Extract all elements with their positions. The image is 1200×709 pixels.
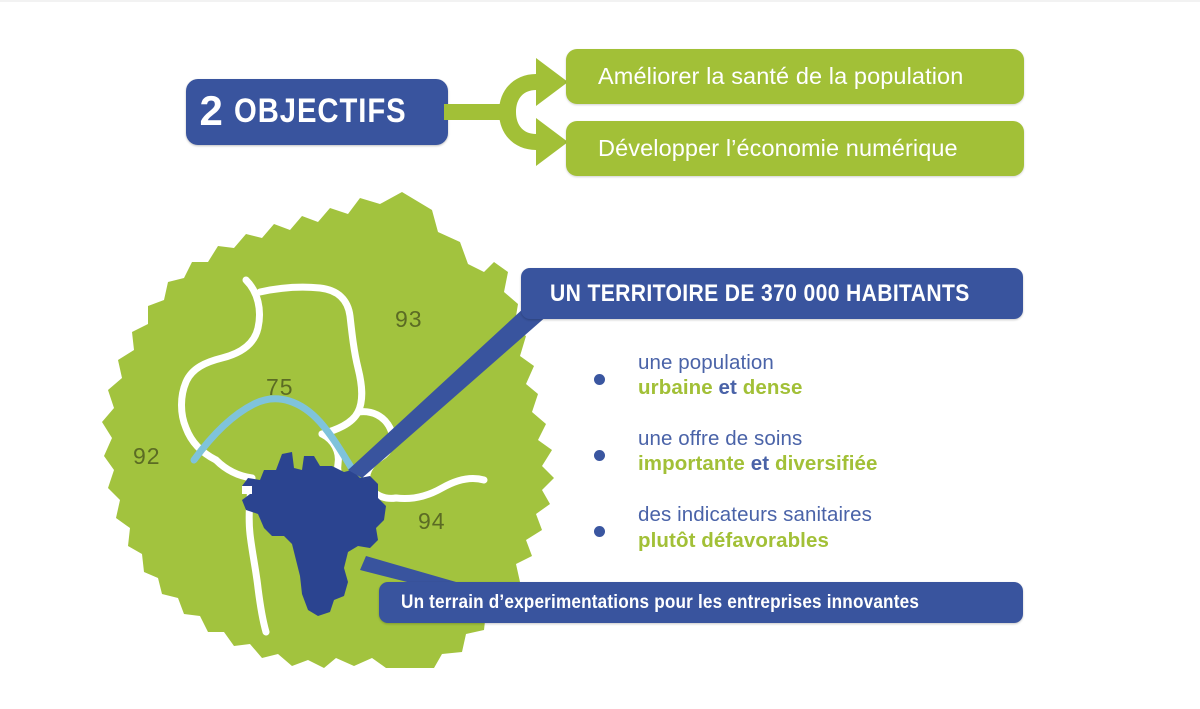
objectives-badge: 2 OBJECTIFS: [186, 79, 448, 145]
objectives-word: OBJECTIFS: [234, 94, 407, 128]
territory-banner-label: UN TERRITOIRE DE 370 000 HABITANTS: [521, 282, 970, 306]
fact-emphasis-a: importante: [638, 452, 745, 475]
bullet-dot-icon: [594, 526, 605, 537]
list-item: une population urbaine et dense: [590, 350, 970, 402]
top-divider: [0, 0, 1200, 2]
map-label-75: 75: [266, 374, 294, 401]
fact-conjunction: et: [719, 376, 737, 399]
objectives-count: 2: [199, 90, 222, 132]
territory-banner: UN TERRITOIRE DE 370 000 HABITANTS: [521, 268, 1023, 319]
fork-arrow-icon: [444, 52, 570, 172]
objective-label-1: Développer l’économie numérique: [566, 137, 958, 161]
territory-facts-list: une population urbaine et dense une offr…: [590, 350, 970, 578]
objective-pill-1: Développer l’économie numérique: [566, 121, 1024, 176]
fact-emphasis-b: dense: [743, 376, 803, 399]
fact-line-primary: une population: [638, 350, 970, 375]
map-label-94: 94: [418, 508, 446, 535]
list-item: des indicateurs sanitaires plutôt défavo…: [590, 502, 970, 554]
experimentation-banner: Un terrain d’experimentations pour les e…: [379, 582, 1023, 623]
fact-line-primary: des indicateurs sanitaires: [638, 502, 970, 527]
fact-line-emphasis: urbaine et dense: [638, 375, 970, 402]
experimentation-banner-label: Un terrain d’experimentations pour les e…: [379, 593, 919, 613]
map-notch: [242, 486, 252, 494]
fact-line-emphasis: plutôt défavorables: [638, 528, 970, 555]
bullet-dot-icon: [594, 374, 605, 385]
bullet-dot-icon: [594, 450, 605, 461]
fact-emphasis-a: plutôt défavorables: [638, 529, 829, 552]
objective-label-0: Améliorer la santé de la population: [566, 65, 963, 89]
fact-emphasis-b: diversifiée: [775, 452, 878, 475]
infographic-canvas: 2 OBJECTIFS Améliorer la santé de la pop…: [0, 0, 1200, 709]
fact-emphasis-a: urbaine: [638, 376, 713, 399]
map-label-92: 92: [133, 443, 161, 470]
fact-line-emphasis: importante et diversifiée: [638, 451, 970, 478]
fact-line-primary: une offre de soins: [638, 426, 970, 451]
fact-conjunction: et: [751, 452, 769, 475]
map-label-93: 93: [395, 306, 423, 333]
objective-pill-0: Améliorer la santé de la population: [566, 49, 1024, 104]
list-item: une offre de soins importante et diversi…: [590, 426, 970, 478]
